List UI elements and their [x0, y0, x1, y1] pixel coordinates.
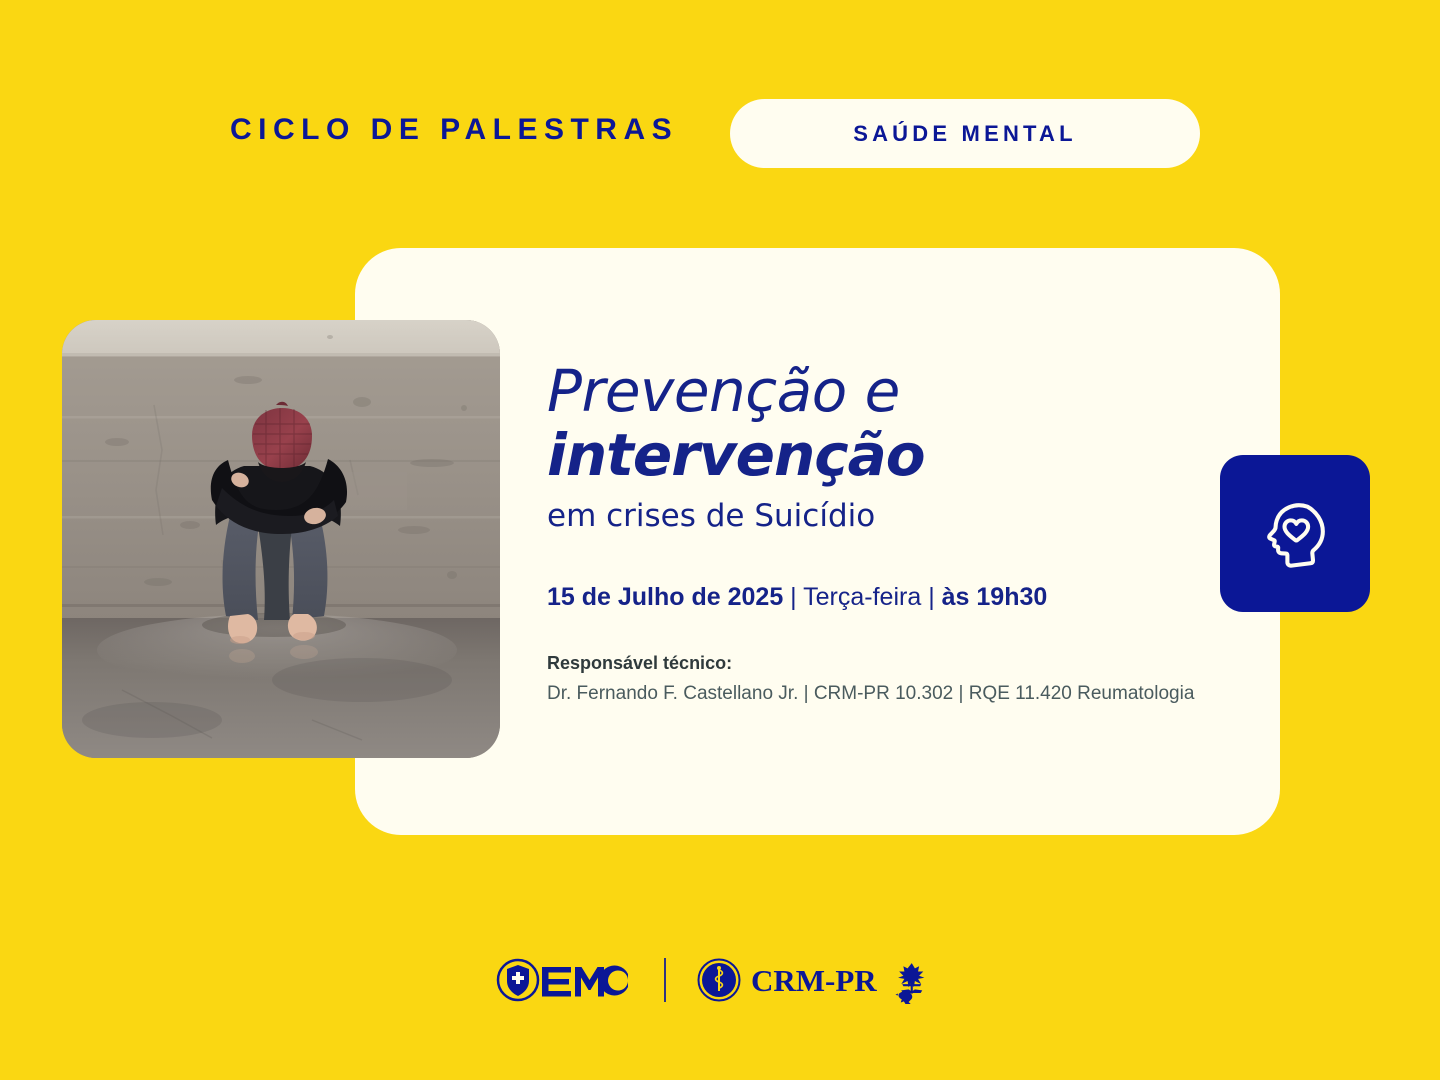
person-sitting-against-wall-photo	[62, 320, 500, 758]
lecture-weekday: Terça-feira	[803, 583, 921, 611]
lecture-details: Prevenção e intervenção em crises de Sui…	[547, 362, 1227, 708]
lecture-photo	[62, 320, 500, 758]
lecture-title-line-1: Prevenção e	[547, 362, 1227, 421]
footer-divider	[664, 958, 666, 1002]
footer-logos: CRM-PR	[0, 948, 1440, 1012]
emc-logo-mark	[494, 954, 634, 1006]
datetime-separator-2: |	[921, 583, 941, 611]
responsible-label: Responsável técnico:	[547, 651, 1227, 676]
crm-pr-logo-mark: CRM-PR	[696, 954, 946, 1006]
topic-pill-label: SAÚDE MENTAL	[853, 121, 1077, 147]
crm-pr-logo: CRM-PR	[696, 954, 946, 1006]
svg-text:CRM-PR: CRM-PR	[751, 963, 877, 998]
emc-logo	[494, 954, 634, 1006]
mental-health-badge	[1220, 455, 1370, 612]
page-kicker: CICLO DE PALESTRAS	[230, 113, 678, 147]
head-with-heart-icon	[1253, 492, 1337, 576]
lecture-time: às 19h30	[942, 583, 1048, 611]
responsible-value: Dr. Fernando F. Castellano Jr. | CRM-PR …	[547, 681, 1227, 708]
lecture-title-line-2: intervenção	[547, 421, 1227, 489]
lecture-date: 15 de Julho de 2025	[547, 583, 783, 611]
lecture-datetime: 15 de Julho de 2025 | Terça-feira | às 1…	[547, 582, 1227, 613]
datetime-separator-1: |	[783, 583, 803, 611]
topic-pill: SAÚDE MENTAL	[730, 99, 1200, 168]
lecture-subtitle: em crises de Suicídio	[547, 498, 1227, 535]
poster-canvas: CICLO DE PALESTRAS SAÚDE MENTAL	[0, 0, 1440, 1080]
